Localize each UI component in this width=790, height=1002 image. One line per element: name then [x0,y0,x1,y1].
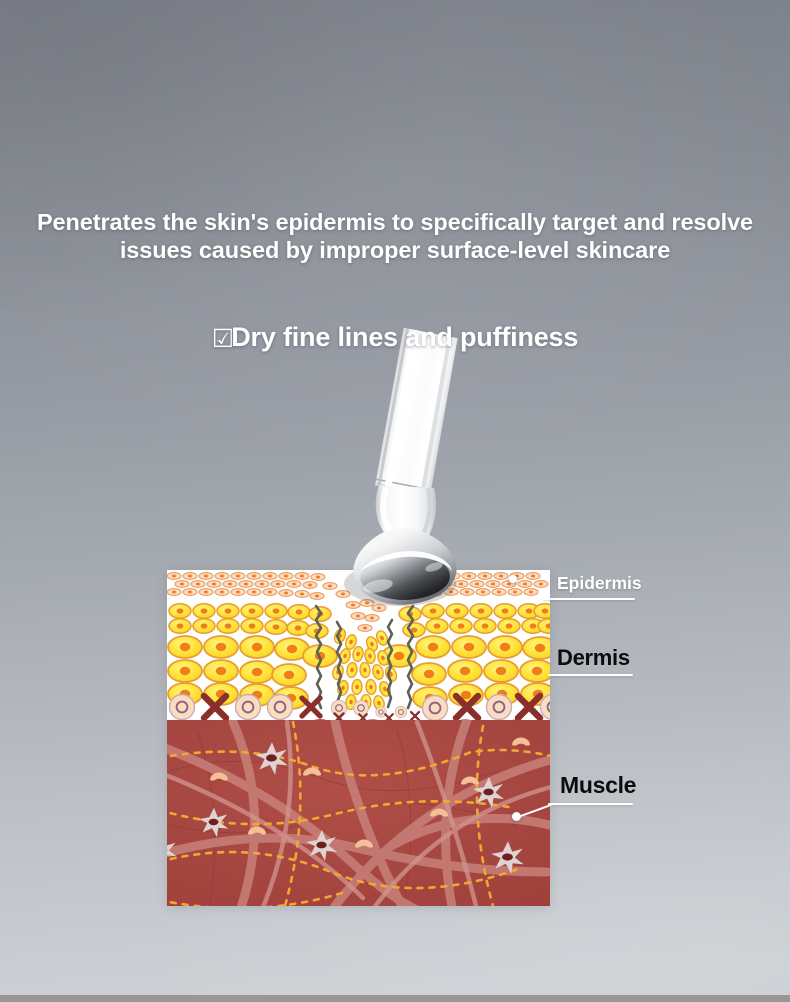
epidermis-label: Epidermis [557,573,642,594]
muscle-underline [548,803,633,805]
bottom-divider-bar [0,995,790,1002]
benefit-line: ☑Dry fine lines and puffiness [0,320,790,356]
dermis-underline [548,674,633,676]
promo-page: Penetrates the skin's epidermis to speci… [0,0,790,1002]
epidermis-marker-dot [509,575,517,583]
muscle-label: Muscle [560,772,636,799]
page-title: Penetrates the skin's epidermis to speci… [0,208,790,264]
skin-cross-section-illustration [167,570,550,906]
device-neck [376,485,436,544]
epidermis-underline [543,598,635,600]
muscle-layer [167,720,550,906]
dermis-label: Dermis [557,645,630,671]
benefit-line-label: Dry fine lines and puffiness [231,322,578,352]
ballot-box-with-check-icon: ☑ [212,325,232,353]
